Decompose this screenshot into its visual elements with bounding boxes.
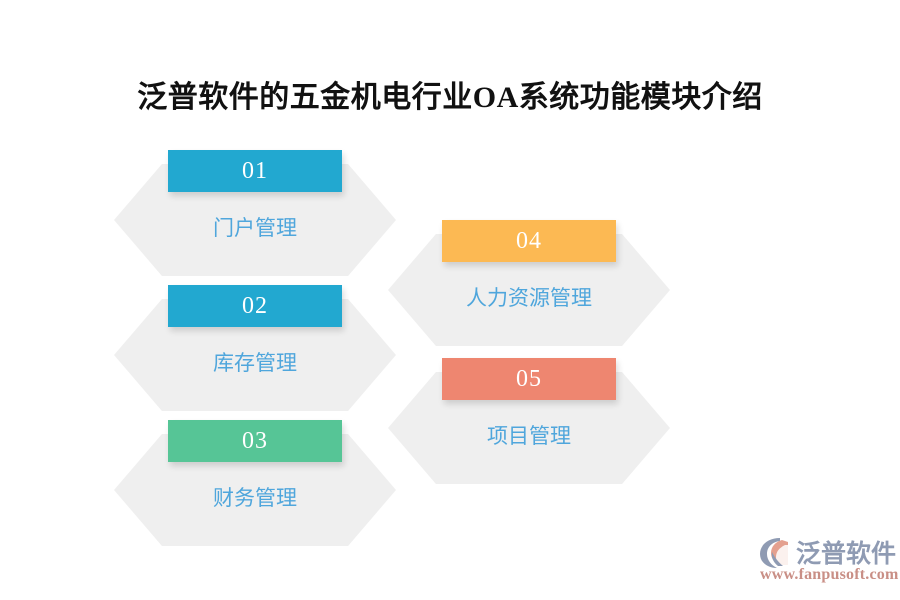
page-title: 泛普软件的五金机电行业OA系统功能模块介绍 bbox=[0, 72, 900, 116]
module-card-05[interactable]: 05 项目管理 bbox=[388, 358, 670, 484]
module-card-02[interactable]: 02 库存管理 bbox=[114, 285, 396, 411]
module-label: 库存管理 bbox=[114, 347, 396, 377]
module-card-04[interactable]: 04 人力资源管理 bbox=[388, 220, 670, 346]
module-number-badge: 01 bbox=[168, 150, 342, 192]
fanpu-swoosh-icon bbox=[758, 536, 794, 570]
module-label: 人力资源管理 bbox=[388, 282, 670, 312]
slide-canvas: 泛普软件的五金机电行业OA系统功能模块介绍 01 门户管理 02 库存管理 03… bbox=[0, 0, 900, 600]
module-number-badge: 05 bbox=[442, 358, 616, 400]
logo-wordmark: 泛普软件 bbox=[796, 534, 896, 570]
module-card-03[interactable]: 03 财务管理 bbox=[114, 420, 396, 546]
logo-url: www.fanpusoft.com bbox=[760, 566, 899, 584]
module-label: 财务管理 bbox=[114, 482, 396, 512]
module-label: 门户管理 bbox=[114, 212, 396, 242]
module-label: 项目管理 bbox=[388, 420, 670, 450]
module-number-badge: 04 bbox=[442, 220, 616, 262]
module-number-badge: 03 bbox=[168, 420, 342, 462]
module-number-badge: 02 bbox=[168, 285, 342, 327]
company-logo: 泛普软件 www.fanpusoft.com bbox=[758, 534, 894, 590]
module-card-01[interactable]: 01 门户管理 bbox=[114, 150, 396, 276]
